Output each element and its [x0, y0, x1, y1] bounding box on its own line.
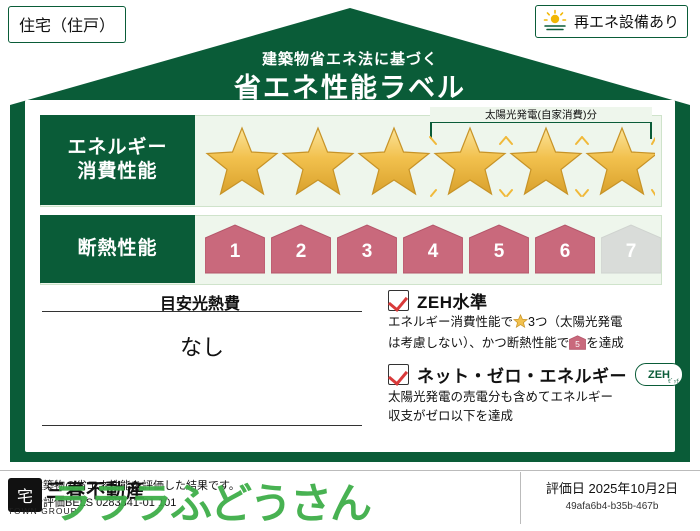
evaluation-info: 評価日 2025年10月2日 49afa6b4-b35b-467b — [532, 478, 692, 512]
zeh-desc-part1: エネルギー消費性能で — [388, 315, 513, 329]
grade-item: 5 — [469, 224, 529, 274]
zeh-desc-part3: は考慮しない）、かつ断熱性能で — [388, 336, 569, 350]
grade-number: 5 — [469, 241, 529, 263]
watermark-overlay-text: ラララふどうさん — [50, 470, 370, 531]
grade-item: 4 — [403, 224, 463, 274]
grade-number: 1 — [205, 241, 265, 263]
zeh-standard-check-row: ZEH水準 — [388, 288, 488, 313]
grade-item: 1 — [205, 224, 265, 274]
grade-number: 2 — [271, 241, 331, 263]
nze-desc-line2: 収支がゼロ以下を達成 — [388, 409, 513, 423]
sun-icon — [542, 9, 568, 33]
insulation-performance-label: 断熱性能 — [40, 215, 195, 283]
agency-logo-badge-label: 宅 — [17, 483, 33, 507]
grade-item: 6 — [535, 224, 595, 274]
mini-star-icon — [513, 314, 528, 334]
grade-number: 3 — [337, 241, 397, 263]
insulation-label-line1: 断熱性能 — [77, 237, 157, 261]
renewable-energy-tag: 再エネ設備あり — [535, 5, 688, 38]
zeh-desc-part4: を達成 — [586, 336, 624, 350]
zeh-standard-title: ZEH水準 — [417, 288, 488, 313]
energy-star-rating — [200, 118, 655, 202]
grade-item: 2 — [271, 224, 331, 274]
zeh-badge-sublabel: ｾﾞｯﾁ — [668, 377, 679, 385]
energy-label-line1: エネルギー — [67, 136, 167, 160]
zeh-desc-part2: 3つ（太陽光発電 — [528, 315, 622, 329]
utility-divider-bottom — [42, 425, 362, 426]
energy-label-document: 建築物省エネ法に基づく 省エネ性能ラベル 住宅（住戸） 再エネ設備あ — [0, 0, 700, 525]
insulation-grade-scale: 1 2 3 4 5 6 7 — [205, 224, 661, 274]
grade-number: 7 — [601, 241, 661, 263]
grade-item: 7 — [601, 224, 661, 274]
zeh-badge-label: ZEH — [648, 369, 670, 381]
energy-label-line2: 消費性能 — [67, 160, 167, 184]
renewable-energy-tag-label: 再エネ設備あり — [574, 11, 679, 32]
net-zero-energy-description: 太陽光発電の売電分も含めてエネルギー 収支がゼロ以下を達成 — [388, 388, 678, 427]
evaluation-date: 評価日 2025年10月2日 — [532, 478, 692, 497]
nze-desc-line1: 太陽光発電の売電分も含めてエネルギー — [388, 390, 613, 404]
grade-number: 4 — [403, 241, 463, 263]
energy-performance-label: エネルギー 消費性能 — [40, 115, 195, 205]
net-zero-energy-title: ネット・ゼロ・エネルギー — [417, 362, 627, 387]
utility-cost-value: なし — [42, 330, 362, 362]
grade-number: 6 — [535, 241, 595, 263]
zeh-badge-icon: ZEH ｾﾞｯﾁ — [635, 363, 683, 386]
svg-text:5: 5 — [575, 339, 580, 349]
grade-item: 3 — [337, 224, 397, 274]
evaluation-id: 49afa6b4-b35b-467b — [532, 501, 692, 512]
utility-cost-title: 目安光熱費 — [55, 290, 345, 314]
grade5-badge-icon: 5 — [569, 335, 586, 350]
check-icon — [388, 290, 409, 311]
check-icon — [388, 364, 409, 385]
building-type-tag: 住宅（住戸） — [8, 6, 126, 43]
footer-vertical-divider — [520, 472, 521, 524]
zeh-standard-description: エネルギー消費性能で3つ（太陽光発電 は考慮しない）、かつ断熱性能で5を達成 — [388, 313, 678, 354]
net-zero-energy-check-row: ネット・ゼロ・エネルギー ZEH ｾﾞｯﾁ — [388, 362, 683, 387]
